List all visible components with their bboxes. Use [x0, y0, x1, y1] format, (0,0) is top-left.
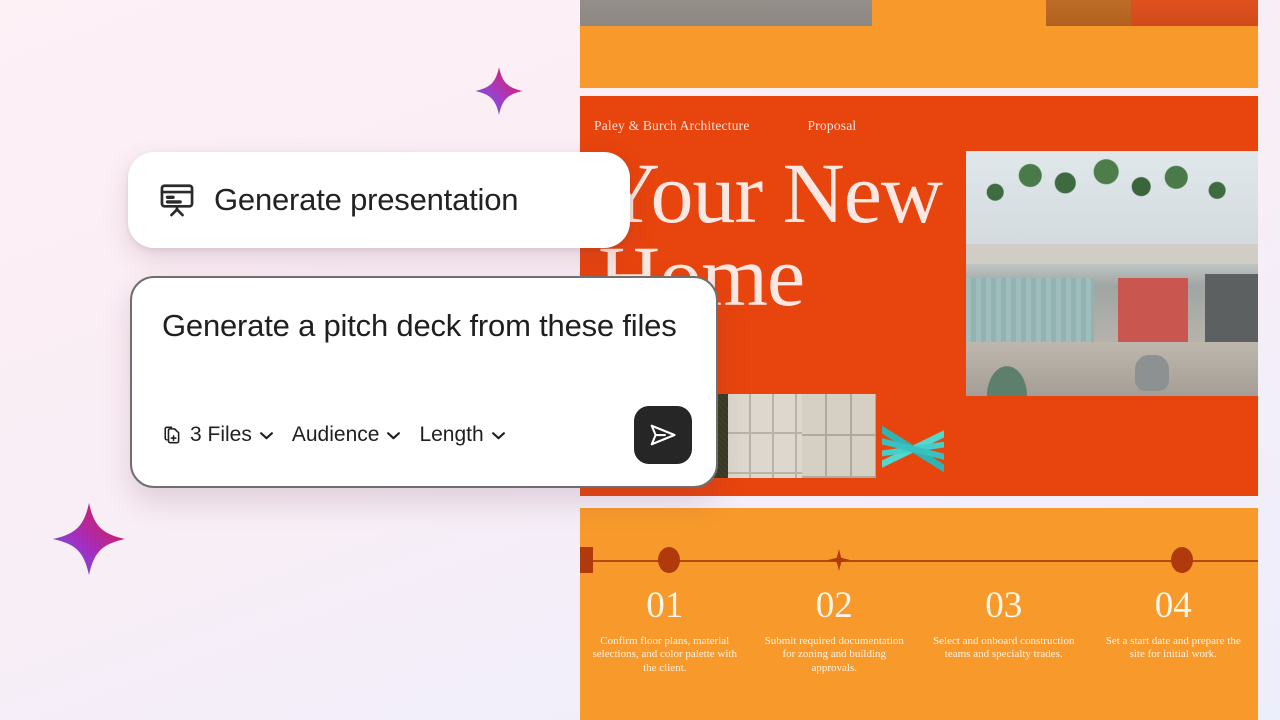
step-number: 01 [592, 586, 738, 627]
step-number: 02 [762, 586, 908, 627]
roof-layer [966, 244, 1258, 264]
chevron-down-icon [259, 431, 274, 440]
photo-chairs [580, 0, 872, 26]
slide-header: Paley & Burch Architecture Proposal [594, 118, 856, 134]
length-selector[interactable]: Length [419, 423, 505, 447]
red-door-layer [1118, 278, 1188, 347]
chevron-down-icon [491, 431, 506, 440]
send-icon [648, 420, 678, 450]
timeline-marker-02 [828, 549, 850, 571]
timeline-marker-03 [580, 547, 593, 573]
generate-presentation-label: Generate presentation [214, 182, 518, 218]
timeline-marker-04 [1171, 547, 1193, 573]
length-label: Length [419, 423, 483, 447]
doc-type: Proposal [808, 118, 857, 134]
files-selector[interactable]: 3 Files [162, 423, 274, 447]
generate-presentation-button[interactable]: Generate presentation [128, 152, 630, 248]
files-label: 3 Files [190, 423, 252, 447]
boulder [1135, 355, 1169, 391]
timeline-step: 03 Select and onboard construction teams… [919, 586, 1089, 676]
step-number: 03 [931, 586, 1077, 627]
sparkle-small-icon [472, 64, 526, 118]
audience-label: Audience [292, 423, 380, 447]
chevron-down-icon [386, 431, 401, 440]
step-text: Submit required documentation for zoning… [762, 635, 908, 676]
step-text: Confirm floor plans, material selections… [592, 635, 738, 676]
photo-wood-wall [1046, 0, 1258, 26]
add-files-icon [162, 424, 183, 446]
firm-name: Paley & Burch Architecture [594, 118, 750, 134]
prompt-input-text[interactable]: Generate a pitch deck from these files [162, 306, 686, 346]
prompt-controls: 3 Files Audience Length [162, 406, 692, 464]
sparkle-large-icon [48, 498, 130, 580]
swatch-beige-tile [728, 394, 802, 478]
presentation-icon [158, 181, 196, 219]
audience-selector[interactable]: Audience [292, 423, 402, 447]
swatch-beige-tile-2 [802, 394, 876, 478]
timeline-steps: 01 Confirm floor plans, material selecti… [580, 586, 1258, 676]
swatch-agave-on-orange [876, 394, 950, 478]
photo-desert-house [966, 151, 1258, 396]
send-button[interactable] [634, 406, 692, 464]
step-number: 04 [1101, 586, 1247, 627]
timeline-marker-01 [658, 547, 680, 573]
fence-layer [966, 278, 1094, 347]
app-canvas: Paley & Burch Architecture Proposal Your… [0, 0, 1280, 720]
step-text: Select and onboard construction teams an… [931, 635, 1077, 663]
timeline-axis [580, 560, 1258, 562]
slide-timeline[interactable]: 01 Confirm floor plans, material selecti… [580, 508, 1258, 720]
agave-plant [972, 344, 1042, 396]
timeline-step: 01 Confirm floor plans, material selecti… [580, 586, 750, 676]
timeline-step: 02 Submit required documentation for zon… [750, 586, 920, 676]
timeline-step: 04 Set a start date and prepare the site… [1089, 586, 1259, 676]
step-text: Set a start date and prepare the site fo… [1101, 635, 1247, 663]
slide-photo-strip[interactable] [580, 0, 1258, 88]
prompt-card[interactable]: Generate a pitch deck from these files 3… [130, 276, 718, 488]
palms-layer [966, 155, 1258, 248]
